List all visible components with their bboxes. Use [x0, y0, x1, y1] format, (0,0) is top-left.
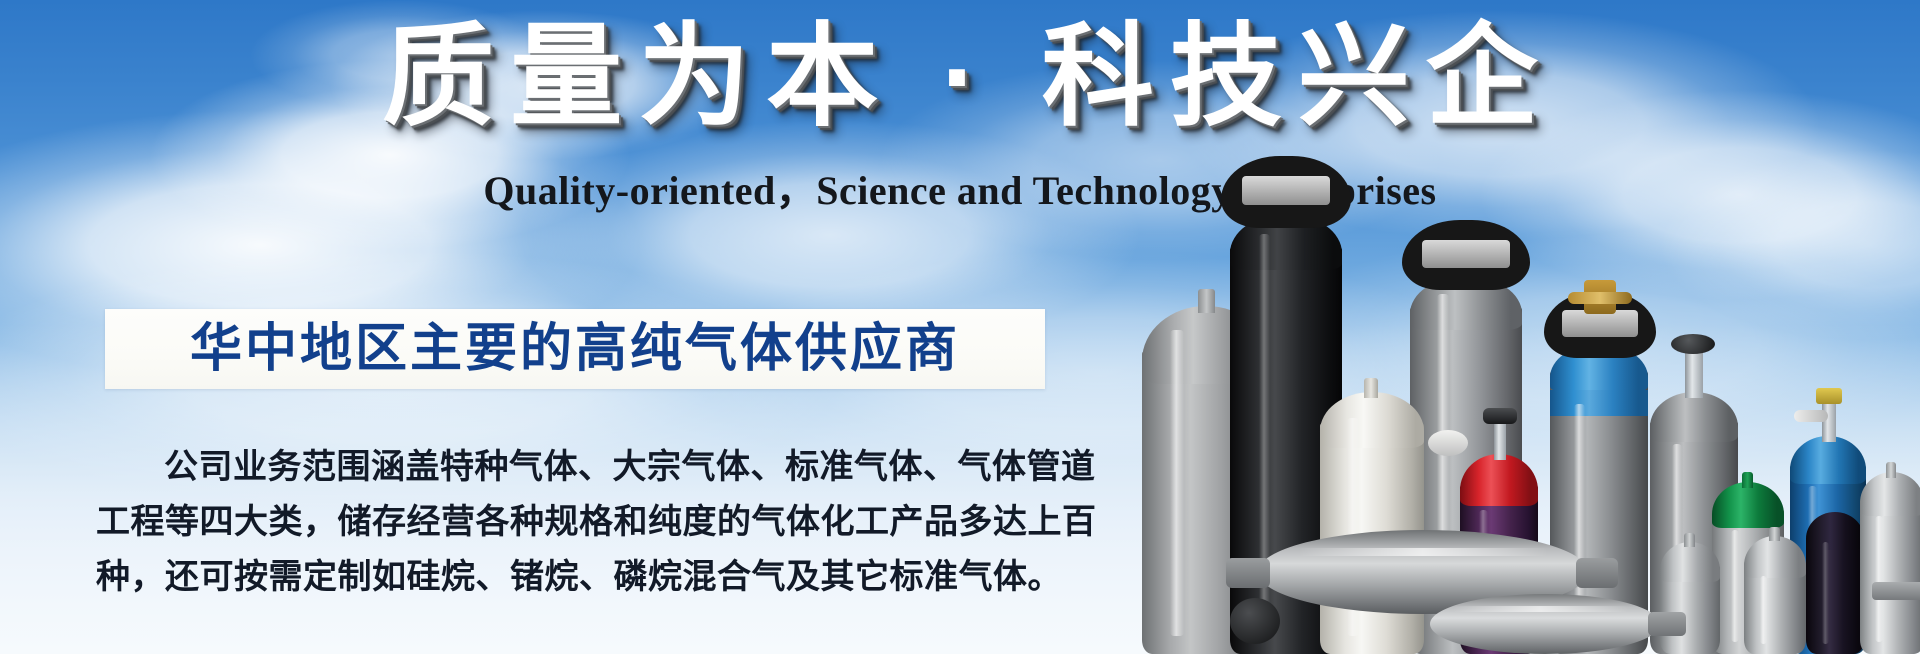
- paragraph-line: 工程等四大类，储存经营各种规格和纯度的气体化工产品多达上百: [96, 495, 1056, 550]
- horizontal-tank-small: [1430, 594, 1660, 654]
- cylinder-aluminum-short: [1660, 542, 1720, 654]
- tagline-plate: 华中地区主要的高纯气体供应商: [105, 309, 1045, 389]
- paragraph-line: 公司业务范围涵盖特种气体、大宗气体、标准气体、气体管道: [96, 440, 1056, 495]
- cylinder-aluminum-tall: [1860, 472, 1920, 654]
- description-paragraph: 公司业务范围涵盖特种气体、大宗气体、标准气体、气体管道 工程等四大类，储存经营各…: [96, 440, 1056, 605]
- paragraph-line: 种，还可按需定制如硅烷、锗烷、磷烷混合气及其它标准气体。: [96, 550, 1056, 605]
- tank-connector-icon: [1872, 582, 1920, 600]
- valve-guard-icon: [1402, 220, 1530, 290]
- gas-cylinder-group: [1130, 175, 1920, 654]
- tank-handwheel-icon: [1230, 598, 1280, 644]
- valve-guard-icon: [1221, 156, 1351, 228]
- handwheel-icon: [1671, 334, 1715, 354]
- valve-knob-icon: [1483, 408, 1517, 424]
- cylinder-cream-white: [1320, 392, 1424, 654]
- headline-chinese: 质量为本 · 科技兴企: [0, 18, 1920, 137]
- promotional-banner: 质量为本 · 科技兴企 Quality-oriented，Science and…: [0, 0, 1920, 654]
- cylinder-aluminum-short: [1744, 536, 1806, 654]
- pressure-gauge-icon: [1428, 430, 1468, 456]
- cylinder-black-slim: [1806, 512, 1864, 654]
- tagline-text: 华中地区主要的高纯气体供应商: [190, 323, 960, 375]
- valve-cap-icon: [1816, 388, 1842, 404]
